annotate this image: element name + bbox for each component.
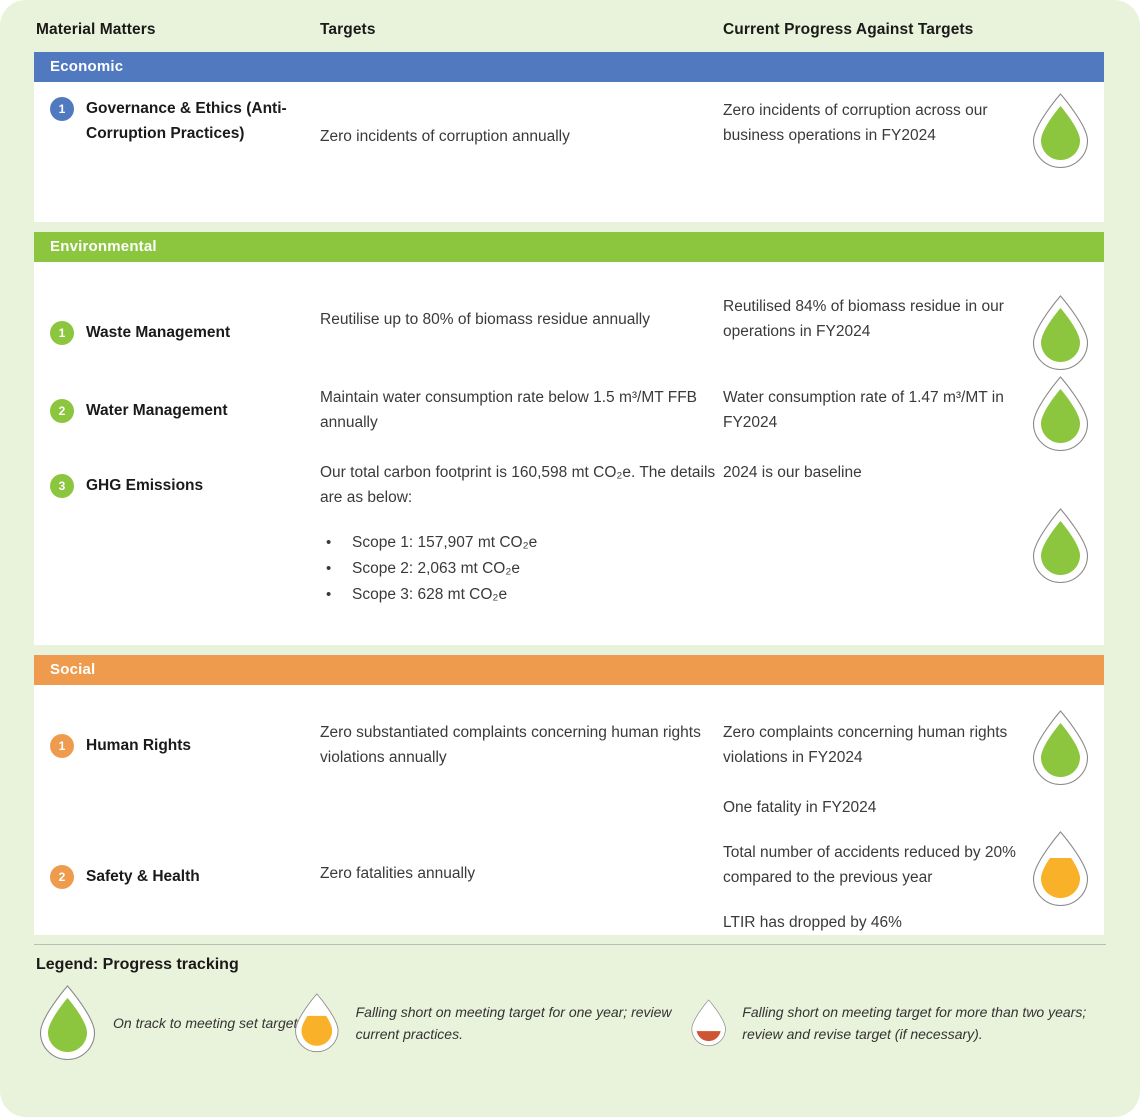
progress-text: Zero incidents of corruption across our … (723, 98, 1028, 148)
material-matter-label: GHG Emissions (86, 473, 203, 498)
material-matter-label: Waste Management (86, 320, 230, 345)
list-item: Scope 2: 2,063 mt CO₂e (320, 556, 720, 582)
cell-progress: Zero incidents of corruption across our … (723, 98, 1028, 148)
legend-item-falling-short-one-year: Falling short on meeting target for one … (292, 984, 692, 1062)
material-matter-label: Governance & Ethics (Anti-Corruption Pra… (86, 96, 318, 146)
cell-progress: 2024 is our baseline (723, 460, 1028, 485)
droplet-icon-on-track (1029, 375, 1092, 453)
target-text: Maintain water consumption rate below 1.… (320, 385, 720, 435)
cell-target: Maintain water consumption rate below 1.… (320, 385, 720, 435)
row-number-badge: 1 (50, 734, 74, 758)
legend-item-on-track: On track to meeting set target. (36, 984, 306, 1062)
cell-status-droplet (1029, 375, 1104, 453)
row-number-badge: 3 (50, 474, 74, 498)
droplet-icon-falling-short-one-year (1029, 830, 1092, 908)
column-header-targets: Targets (320, 21, 376, 39)
section-gap (34, 222, 1104, 232)
target-text: Zero substantiated complaints concerning… (320, 720, 720, 770)
progress-text-line: Total number of accidents reduced by 20%… (723, 840, 1028, 890)
cell-target: Zero substantiated complaints concerning… (320, 720, 720, 770)
column-header-current-progress: Current Progress Against Targets (723, 21, 973, 39)
cell-target: Zero fatalities annually (320, 861, 720, 886)
column-headers: Material Matters Targets Current Progres… (0, 21, 1140, 45)
section-body-environmental: 1 Waste Management Reutilise up to 80% o… (34, 262, 1104, 645)
cell-progress: Water consumption rate of 1.47 m³/MT in … (723, 385, 1028, 435)
droplet-icon-on-track (1029, 92, 1092, 170)
cell-material-matter: 2 Water Management (50, 398, 318, 423)
legend-divider (34, 944, 1106, 945)
legend-text: On track to meeting set target. (113, 1012, 301, 1034)
droplet-icon-falling-short-one-year (292, 984, 342, 1062)
legend-text: Falling short on meeting target for more… (742, 1001, 1109, 1045)
cell-status-droplet (1029, 507, 1104, 585)
droplet-icon-on-track (1029, 709, 1092, 787)
target-text: Our total carbon footprint is 160,598 mt… (320, 460, 720, 510)
material-matter-label: Water Management (86, 398, 228, 423)
row-number-badge: 2 (50, 399, 74, 423)
cell-material-matter: 1 Governance & Ethics (Anti-Corruption P… (50, 96, 318, 146)
section-band-environmental: Environmental (34, 232, 1104, 262)
progress-text: 2024 is our baseline (723, 460, 1028, 485)
progress-text-line: One fatality in FY2024 (723, 795, 1028, 820)
targets-table: Economic 1 Governance & Ethics (Anti-Cor… (34, 52, 1104, 935)
list-item: Scope 3: 628 mt CO₂e (320, 582, 720, 608)
droplet-icon-on-track (1029, 507, 1092, 585)
column-header-material-matters: Material Matters (36, 21, 156, 39)
scope-list: Scope 1: 157,907 mt CO₂e Scope 2: 2,063 … (320, 530, 720, 608)
cell-status-droplet (1029, 830, 1104, 908)
progress-text-line: LTIR has dropped by 46% (723, 910, 1028, 935)
progress-text: Reutilised 84% of biomass residue in our… (723, 294, 1028, 344)
cell-material-matter: 1 Human Rights (50, 733, 318, 758)
cell-progress: Reutilised 84% of biomass residue in our… (723, 294, 1028, 344)
legend-text: Falling short on meeting target for one … (356, 1001, 692, 1045)
cell-target: Reutilise up to 80% of biomass residue a… (320, 307, 720, 332)
sustainability-targets-table: Material Matters Targets Current Progres… (0, 0, 1140, 1117)
legend-title: Legend: Progress tracking (36, 956, 1106, 974)
cell-target: Our total carbon footprint is 160,598 mt… (320, 460, 720, 608)
cell-material-matter: 2 Safety & Health (50, 864, 318, 889)
droplet-icon-on-track (1029, 294, 1092, 372)
legend-item-falling-short-two-years: Falling short on meeting target for more… (689, 984, 1109, 1062)
cell-material-matter: 3 GHG Emissions (50, 473, 318, 498)
cell-status-droplet (1029, 709, 1104, 787)
cell-status-droplet (1029, 92, 1104, 170)
section-gap (34, 645, 1104, 655)
progress-text: Zero complaints concerning human rights … (723, 720, 1028, 770)
material-matter-label: Safety & Health (86, 864, 200, 889)
cell-status-droplet (1029, 294, 1104, 372)
target-text: Reutilise up to 80% of biomass residue a… (320, 307, 720, 332)
row-number-badge: 1 (50, 97, 74, 121)
droplet-icon-on-track (36, 984, 99, 1062)
cell-target: Zero incidents of corruption annually (320, 124, 720, 149)
droplet-icon-falling-short-two-years (689, 984, 728, 1062)
section-body-social: 1 Human Rights Zero substantiated compla… (34, 685, 1104, 935)
list-item: Scope 1: 157,907 mt CO₂e (320, 530, 720, 556)
target-text: Zero incidents of corruption annually (320, 124, 720, 149)
cell-progress: One fatality in FY2024 Total number of a… (723, 795, 1028, 935)
section-body-economic: 1 Governance & Ethics (Anti-Corruption P… (34, 82, 1104, 222)
row-number-badge: 2 (50, 865, 74, 889)
target-text: Zero fatalities annually (320, 861, 720, 886)
cell-progress: Zero complaints concerning human rights … (723, 720, 1028, 770)
legend: Legend: Progress tracking On track to me… (34, 956, 1106, 1094)
progress-text: Water consumption rate of 1.47 m³/MT in … (723, 385, 1028, 435)
section-band-economic: Economic (34, 52, 1104, 82)
material-matter-label: Human Rights (86, 733, 191, 758)
section-band-social: Social (34, 655, 1104, 685)
cell-material-matter: 1 Waste Management (50, 320, 318, 345)
row-number-badge: 1 (50, 321, 74, 345)
legend-items: On track to meeting set target. Falling … (34, 984, 1106, 1094)
